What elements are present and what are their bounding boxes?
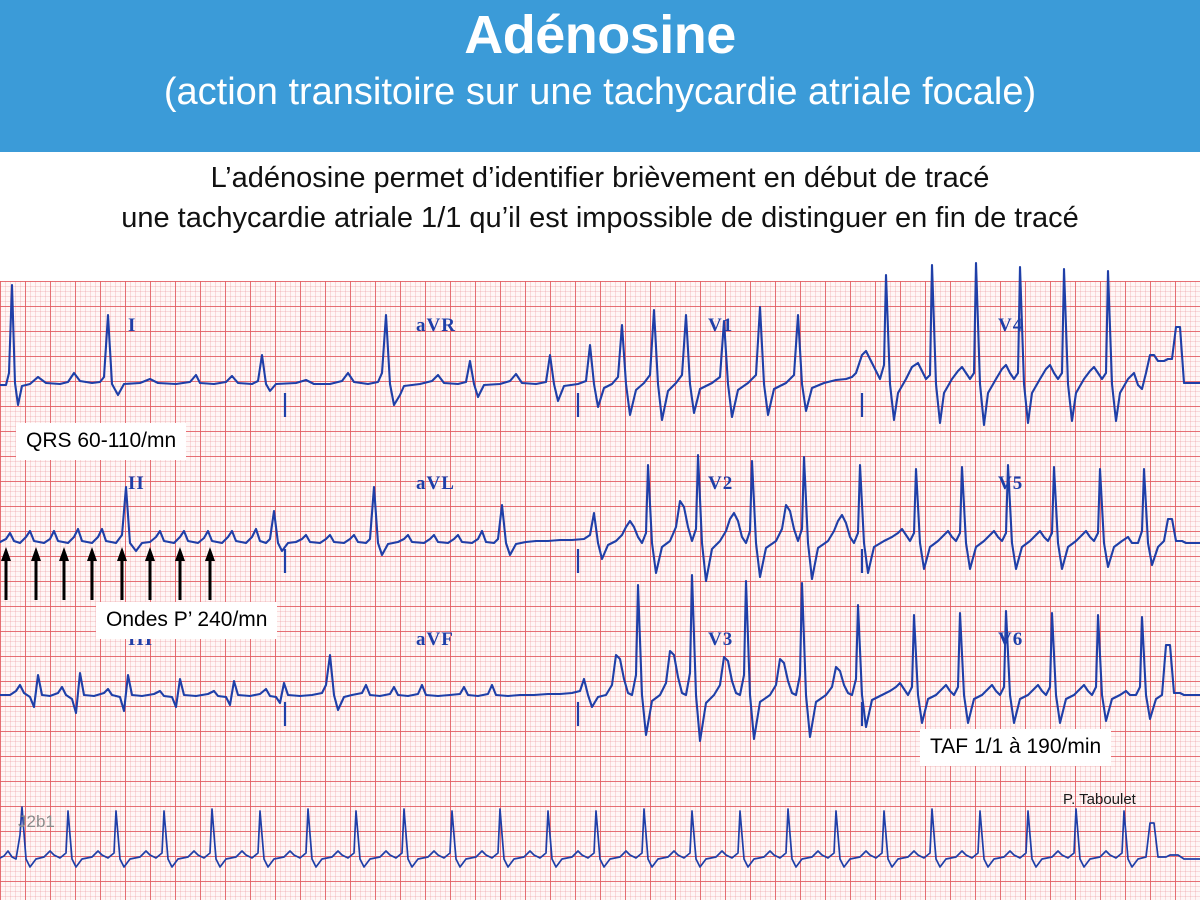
title-banner: Adénosine (action transitoire sur une ta… xyxy=(0,0,1200,152)
p-wave-arrows xyxy=(1,547,215,600)
p-wave-arrow xyxy=(31,547,41,600)
p-wave-arrow xyxy=(205,547,215,600)
p-wave-arrow xyxy=(87,547,97,600)
caption-line-2: une tachycardie atriale 1/1 qu’il est im… xyxy=(0,198,1200,238)
lead-label-V2: V2 xyxy=(708,473,733,494)
caption-line-1: L’adénosine permet d’identifier brièveme… xyxy=(0,158,1200,198)
caption-block: L’adénosine permet d’identifier brièveme… xyxy=(0,158,1200,238)
p-wave-arrow xyxy=(1,547,11,600)
ecg-rhythm-strip xyxy=(0,807,1200,867)
page-subtitle: (action transitoire sur une tachycardie … xyxy=(164,68,1036,116)
annotation-qrs-rate: QRS 60-110/mn xyxy=(16,423,186,460)
lead-label-aVR: aVR xyxy=(416,315,456,336)
lead-label-I: I xyxy=(128,315,136,336)
lead-label-V4: V4 xyxy=(998,315,1023,336)
rhythm-strip-label: J2b1 xyxy=(18,812,55,832)
lead-label-V1: V1 xyxy=(708,315,733,336)
slide-root: Adénosine (action transitoire sur une ta… xyxy=(0,0,1200,900)
lead-label-aVL: aVL xyxy=(416,473,455,494)
p-wave-arrow xyxy=(145,547,155,600)
ecg-traces: I aVR V1 V4 II aVL V2 V5 xyxy=(0,255,1200,900)
lead-label-V6: V6 xyxy=(998,629,1023,650)
lead-label-aVF: aVF xyxy=(416,629,454,650)
ecg-trace-rhythm xyxy=(0,807,1200,867)
p-wave-arrow xyxy=(175,547,185,600)
ecg-image: I aVR V1 V4 II aVL V2 V5 xyxy=(0,255,1200,900)
page-title: Adénosine xyxy=(464,4,736,66)
p-wave-arrow xyxy=(59,547,69,600)
annotation-p-wave-rate: Ondes P’ 240/mn xyxy=(96,602,277,639)
lead-label-V5: V5 xyxy=(998,473,1023,494)
author-credit: P. Taboulet xyxy=(1063,791,1136,808)
p-wave-arrow xyxy=(117,547,127,600)
annotation-taf-rate: TAF 1/1 à 190/min xyxy=(920,729,1111,766)
ecg-trace-row-1 xyxy=(0,263,1200,425)
lead-label-II: II xyxy=(128,473,145,494)
lead-label-V3: V3 xyxy=(708,629,733,650)
ecg-row-1: I aVR V1 V4 xyxy=(0,263,1200,425)
